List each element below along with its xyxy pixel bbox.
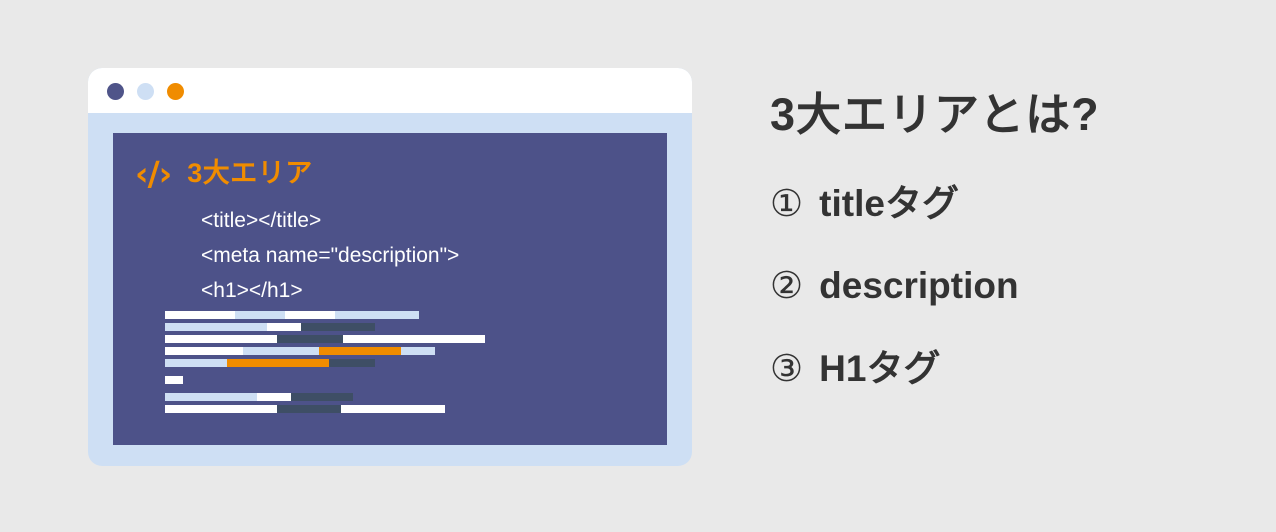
- code-bar-segment-dark: [277, 405, 341, 413]
- list-item-marker-2: ②: [770, 266, 803, 307]
- code-bar-segment-blue: [165, 359, 227, 367]
- decorative-code-bars: [165, 311, 485, 417]
- list-item-label: H1タグ: [819, 349, 940, 390]
- code-angle-brackets-icon: ‹/›: [135, 157, 171, 190]
- code-panel-header: ‹/› 3大エリア: [135, 157, 313, 190]
- code-bar-segment-white: [267, 323, 301, 331]
- browser-mockup-card: ‹/› 3大エリア <title></title> <meta name="de…: [88, 68, 692, 466]
- traffic-light-dot-lightblue-icon[interactable]: [137, 83, 154, 100]
- code-bar-segment-white: [165, 376, 183, 384]
- code-bar-segment-blue: [243, 347, 319, 355]
- browser-titlebar: [88, 68, 692, 113]
- slide-canvas: ‹/› 3大エリア <title></title> <meta name="de…: [0, 0, 1276, 532]
- code-line-title: <title></title>: [201, 203, 459, 238]
- list-item-marker-1: ①: [770, 184, 803, 225]
- code-panel-title: 3大エリア: [187, 160, 313, 187]
- code-bar-row: [165, 405, 485, 413]
- three-areas-list: ①titleタグ②description③H1タグ: [770, 184, 1230, 390]
- code-bar-segment-blue: [401, 347, 435, 355]
- code-snippet: <title></title> <meta name="description"…: [201, 203, 459, 308]
- code-bar-segment-white: [343, 335, 485, 343]
- code-bar-row: [165, 311, 485, 319]
- code-bar-segment-orange: [319, 347, 401, 355]
- code-bar-segment-white: [285, 311, 335, 319]
- code-bar-row: [165, 359, 485, 367]
- info-panel: 3大エリアとは? ①titleタグ②description③H1タグ: [770, 90, 1230, 390]
- code-bar-row: [165, 335, 485, 343]
- code-bar-segment-dark: [329, 359, 375, 367]
- code-bar-segment-orange: [227, 359, 329, 367]
- code-bar-segment-white: [165, 405, 277, 413]
- code-bar-segment-white: [257, 393, 291, 401]
- code-bar-segment-blue: [335, 311, 419, 319]
- list-item-marker-3: ③: [770, 349, 803, 390]
- list-item: ②description: [770, 266, 1230, 307]
- code-bar-segment-dark: [277, 335, 343, 343]
- code-bar-row: [165, 393, 485, 401]
- code-bar-segment-white: [165, 311, 235, 319]
- code-bar-segment-dark: [291, 393, 353, 401]
- traffic-light-dot-orange-icon[interactable]: [167, 83, 184, 100]
- code-line-meta-description: <meta name="description">: [201, 238, 459, 273]
- code-bar-segment-blue: [165, 323, 267, 331]
- code-panel: ‹/› 3大エリア <title></title> <meta name="de…: [113, 133, 667, 445]
- list-item-label: description: [819, 266, 1018, 307]
- code-bar-segment-dark: [301, 323, 375, 331]
- code-bar-segment-white: [165, 347, 243, 355]
- code-bar-row: [165, 323, 485, 331]
- code-bar-segment-blue: [165, 393, 257, 401]
- list-item: ③H1タグ: [770, 349, 1230, 390]
- code-bar-row: [165, 376, 485, 384]
- list-item: ①titleタグ: [770, 184, 1230, 225]
- traffic-light-dot-purple-icon[interactable]: [107, 83, 124, 100]
- code-line-h1: <h1></h1>: [201, 273, 459, 308]
- code-bar-segment-blue: [235, 311, 285, 319]
- code-bar-row: [165, 347, 485, 355]
- list-item-label: titleタグ: [819, 184, 959, 225]
- code-bar-segment-white: [165, 335, 277, 343]
- code-bar-segment-white: [341, 405, 445, 413]
- page-title: 3大エリアとは?: [770, 90, 1230, 140]
